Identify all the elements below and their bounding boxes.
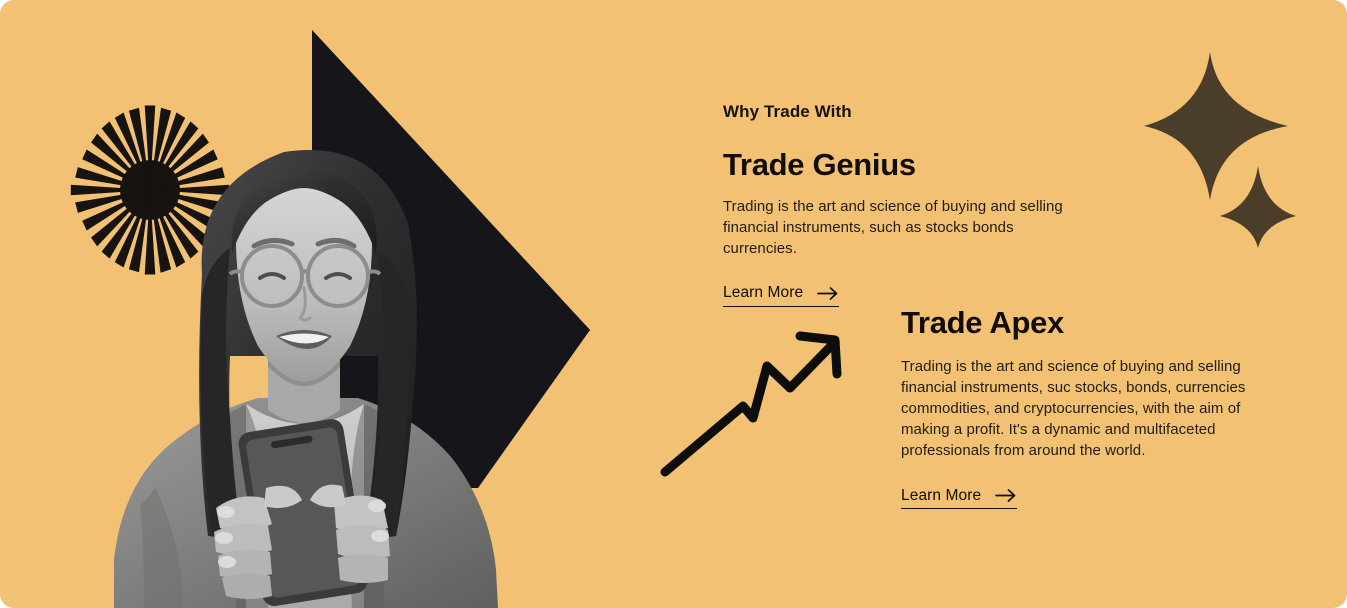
trade-apex-description: Trading is the art and science of buying… [901, 356, 1291, 461]
sparkles-decoration [1140, 48, 1300, 248]
upward-trend-arrow-icon [655, 322, 865, 482]
eyebrow-heading: Why Trade With [723, 103, 1063, 122]
four-point-sparkle-icon [1220, 166, 1296, 248]
hero-banner: Why Trade With Trade Genius Trading is t… [0, 0, 1347, 608]
four-point-sparkle-icon [1144, 52, 1288, 200]
starburst-icon [62, 102, 238, 278]
trade-genius-block: Why Trade With Trade Genius Trading is t… [723, 103, 1063, 307]
arrow-right-icon [817, 287, 839, 300]
trade-apex-block: Trade Apex Trading is the art and scienc… [901, 306, 1291, 509]
learn-more-label: Learn More [901, 488, 981, 504]
trade-genius-title: Trade Genius [723, 148, 1063, 183]
learn-more-label: Learn More [723, 285, 803, 301]
learn-more-button-apex[interactable]: Learn More [901, 488, 1017, 510]
trade-apex-title: Trade Apex [901, 306, 1291, 341]
black-diamond-shape [268, 8, 608, 488]
arrow-right-icon [995, 489, 1017, 502]
trade-genius-description: Trading is the art and science of buying… [723, 196, 1063, 259]
learn-more-button-genius[interactable]: Learn More [723, 285, 839, 307]
woman-with-phone-photo [96, 88, 516, 608]
